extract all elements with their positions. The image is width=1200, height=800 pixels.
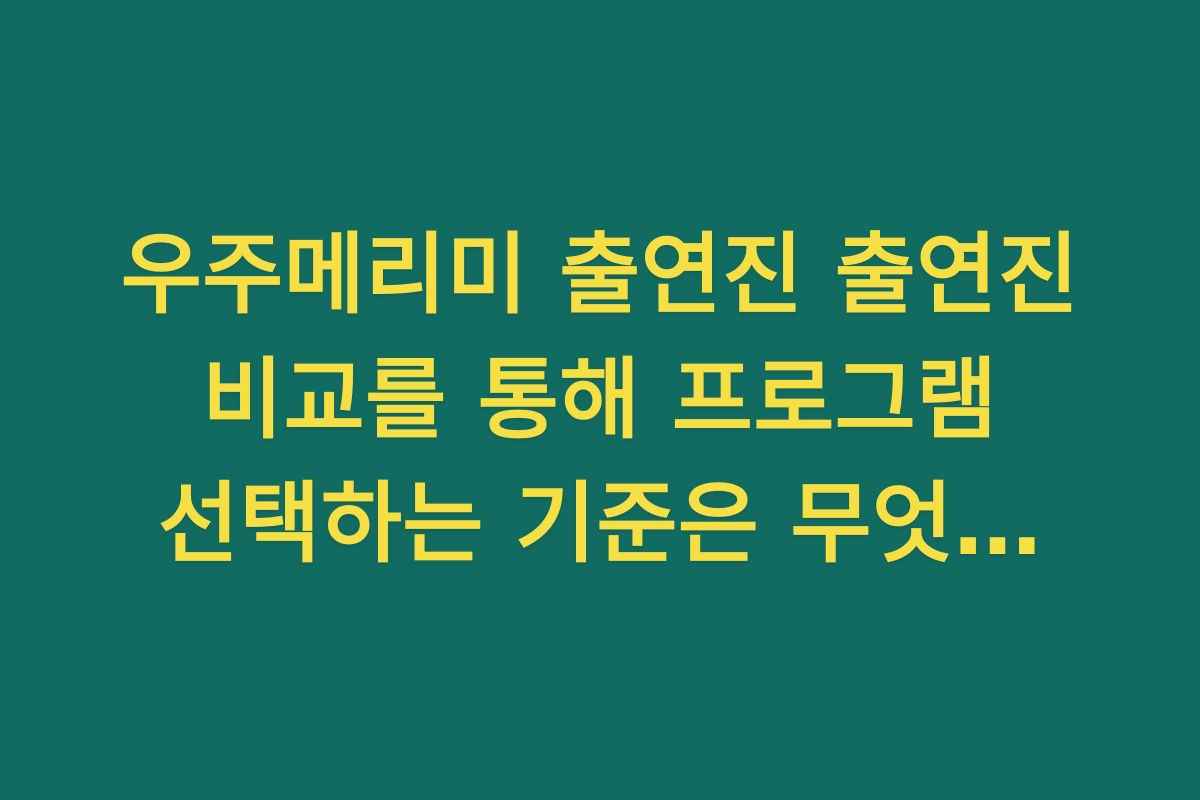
text-thumbnail-card: 우주메리미 출연진 출연진 비교를 통해 프로그램 선택하는 기준은 무엇… [0,0,1200,800]
headline-text: 우주메리미 출연진 출연진 비교를 통해 프로그램 선택하는 기준은 무엇… [121,223,1079,576]
headline-block: 우주메리미 출연진 출연진 비교를 통해 프로그램 선택하는 기준은 무엇… [80,213,1120,588]
